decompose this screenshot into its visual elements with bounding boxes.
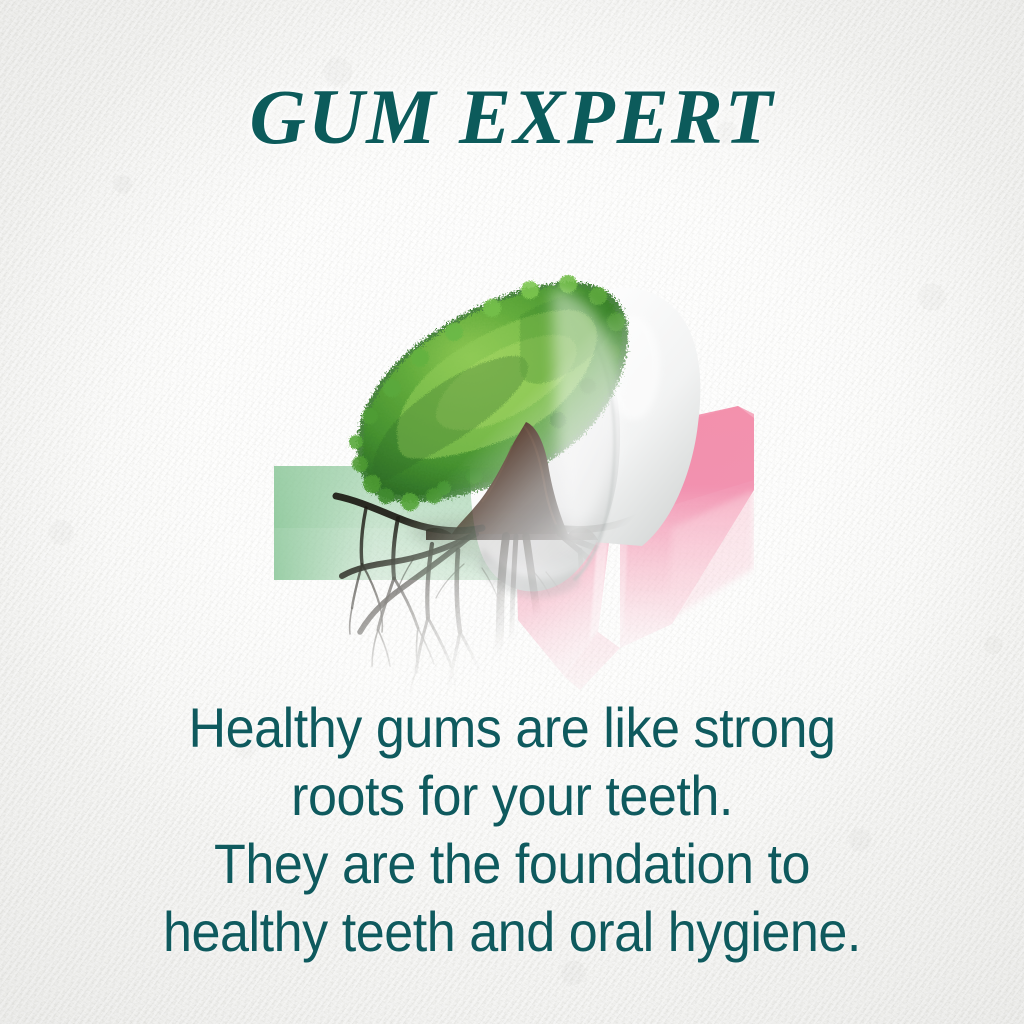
copy-line-2: roots for your teeth.: [36, 762, 988, 830]
copy-line-4: healthy teeth and oral hygiene.: [36, 898, 988, 966]
copy-line-1: Healthy gums are like strong: [36, 694, 988, 762]
title-block: GUM EXPERT: [0, 78, 1024, 156]
page-title: GUM EXPERT: [250, 78, 775, 156]
tree-tooth-illustration: [268, 228, 754, 694]
tree-tooth-svg: [268, 228, 754, 694]
copy-line-3: They are the foundation to: [36, 830, 988, 898]
body-copy: Healthy gums are like strong roots for y…: [36, 694, 988, 966]
poster-canvas: GUM EXPERT: [0, 0, 1024, 1024]
